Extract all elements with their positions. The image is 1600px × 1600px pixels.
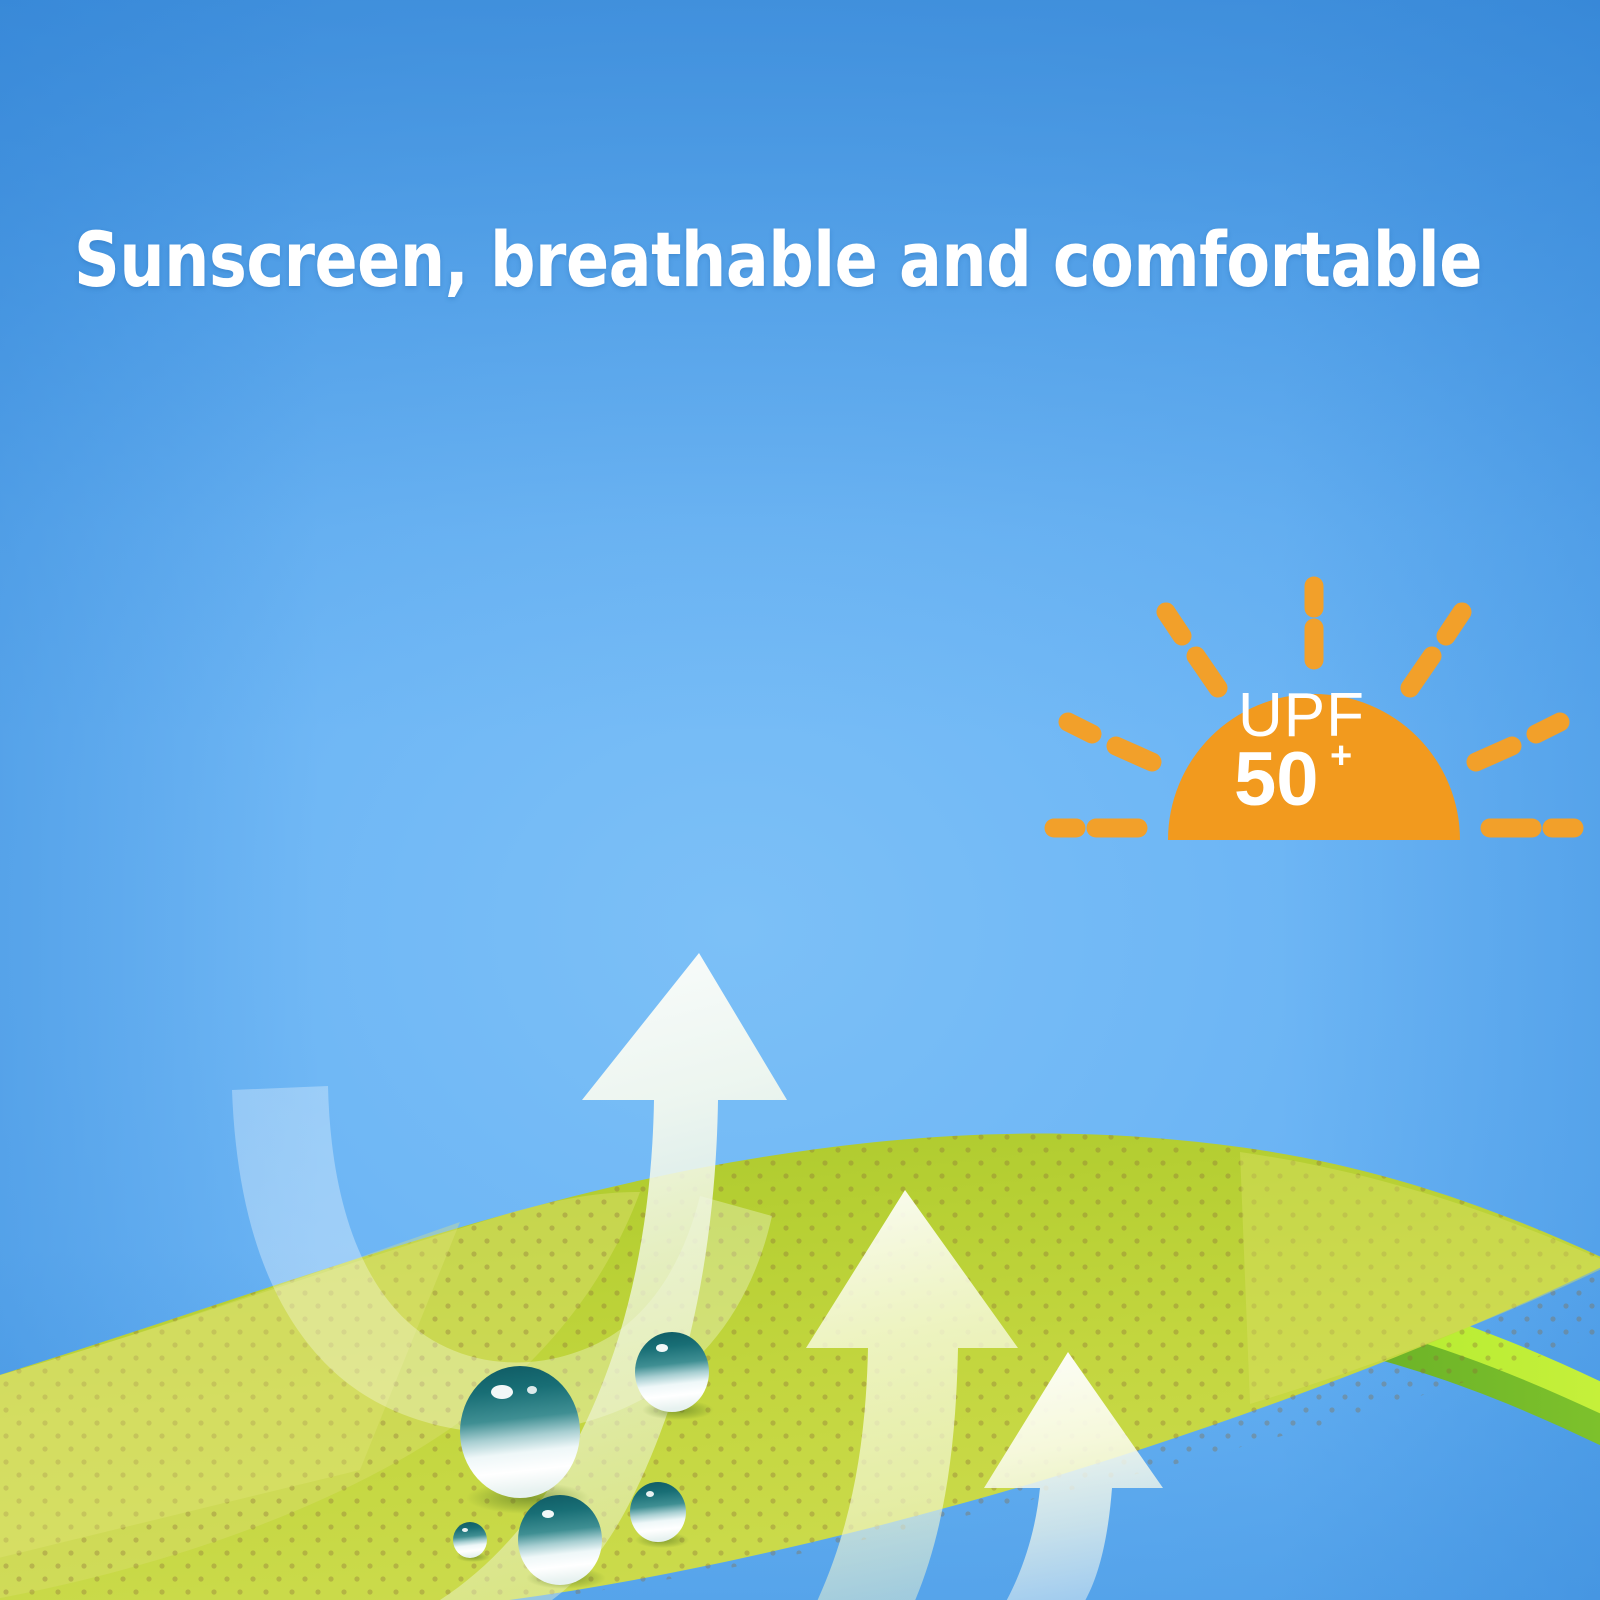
upf-sun-badge — [1054, 586, 1574, 840]
product-feature-banner: Sunscreen, breathable and comfortable — [0, 0, 1600, 1600]
fabric-illustration — [0, 0, 1600, 1600]
sun-dome — [1168, 694, 1460, 840]
fabric-surface — [0, 1100, 1600, 1600]
